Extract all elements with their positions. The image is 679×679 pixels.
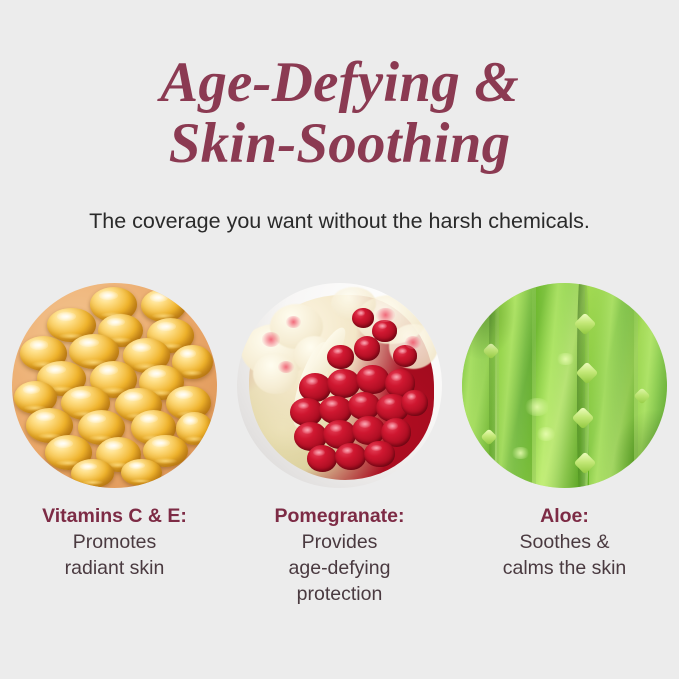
ingredient-column-vitamins: Vitamins C & E: Promotes radiant skin bbox=[11, 283, 218, 581]
ingredient-caption-pomegranate: Pomegranate: Provides age-defying protec… bbox=[232, 503, 447, 607]
ingredient-label: Pomegranate: bbox=[232, 503, 447, 529]
ingredient-description: Soothes & calms the skin bbox=[457, 529, 672, 581]
ingredient-column-pomegranate: Pomegranate: Provides age-defying protec… bbox=[236, 283, 443, 607]
pomegranate-photo bbox=[237, 283, 442, 488]
ingredient-description-line: Provides bbox=[232, 529, 447, 555]
ingredient-description: Promotes radiant skin bbox=[7, 529, 222, 581]
ingredient-description-line: calms the skin bbox=[457, 555, 672, 581]
ingredient-columns: Vitamins C & E: Promotes radiant skin bbox=[0, 283, 679, 607]
ingredient-label: Vitamins C & E: bbox=[7, 503, 222, 529]
page-title-line-2: Skin-Soothing bbox=[0, 113, 679, 174]
ingredient-description-line: age-defying bbox=[232, 555, 447, 581]
ingredient-description-line: protection bbox=[232, 581, 447, 607]
page-title: Age-Defying & Skin-Soothing bbox=[0, 52, 679, 174]
ingredient-caption-vitamins: Vitamins C & E: Promotes radiant skin bbox=[7, 503, 222, 581]
ingredient-column-aloe: Aloe: Soothes & calms the skin bbox=[461, 283, 668, 581]
page-title-line-1: Age-Defying & bbox=[0, 52, 679, 113]
promo-infographic: Age-Defying & Skin-Soothing The coverage… bbox=[0, 0, 679, 679]
ingredient-description-line: Promotes bbox=[7, 529, 222, 555]
vitamin-softgel-capsules-photo bbox=[12, 283, 217, 488]
ingredient-description-line: radiant skin bbox=[7, 555, 222, 581]
ingredient-description-line: Soothes & bbox=[457, 529, 672, 555]
ingredient-description: Provides age-defying protection bbox=[232, 529, 447, 607]
ingredient-caption-aloe: Aloe: Soothes & calms the skin bbox=[457, 503, 672, 581]
page-subtitle: The coverage you want without the harsh … bbox=[0, 208, 679, 234]
aloe-leaves-photo bbox=[462, 283, 667, 488]
ingredient-label: Aloe: bbox=[457, 503, 672, 529]
